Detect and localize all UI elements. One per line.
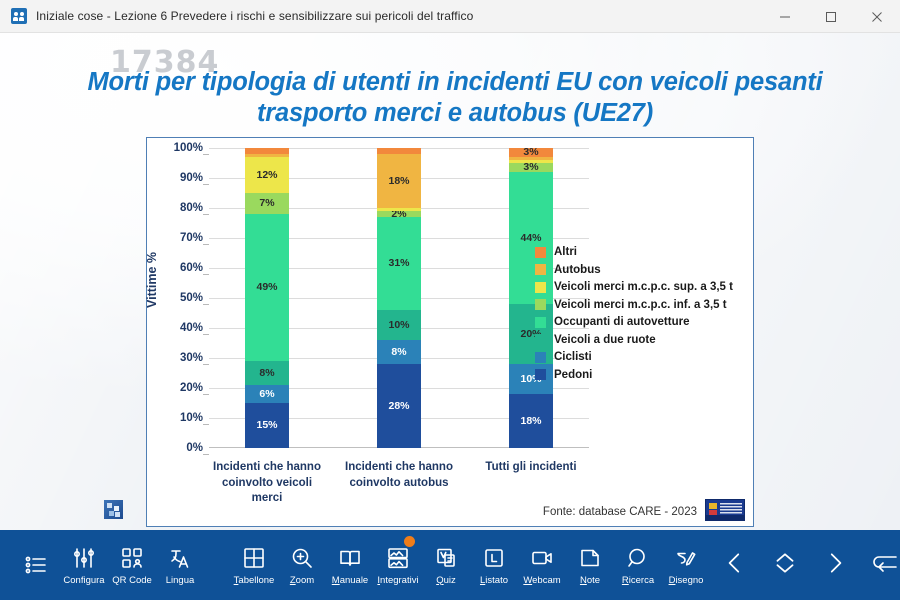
sliders-icon <box>72 545 96 571</box>
toolbar-button-label: Zoom <box>290 575 314 586</box>
legend-label: Veicoli merci m.c.p.c. sup. a 3,5 t <box>554 281 733 293</box>
toolbar-button-ricerca[interactable]: Ricerca <box>614 530 662 600</box>
toolbar-button-label: Lingua <box>166 575 195 586</box>
chart-panel: 0%10%20%30%40%50%60%70%80%90%100% Vittim… <box>146 137 754 527</box>
application-window: Iniziale cose - Lezione 6 Prevedere i ri… <box>0 0 900 600</box>
toolbar-button-label: Configura <box>63 575 104 586</box>
qrcode-icon <box>120 545 144 571</box>
bar-segment: 12% <box>245 157 289 193</box>
segment-value-label: 28% <box>388 401 409 412</box>
y-axis-tick: 60% <box>180 262 203 274</box>
segment-value-label: 31% <box>388 258 409 269</box>
source-note: Fonte: database CARE - 2023 <box>543 506 697 518</box>
toolbar-button-qr-code[interactable]: QR Code <box>108 530 156 600</box>
x-axis-category-label: Incidenti che hannocoinvolto autobus <box>339 460 459 491</box>
x-axis-category-label: Incidenti che hannocoinvolto veicoli mer… <box>207 460 327 507</box>
legend-item: Ciclisti <box>535 351 733 363</box>
window-title: Iniziale cose - Lezione 6 Prevedere i ri… <box>36 9 473 23</box>
toolbar-tools: ConfiguraQR CodeLinguaTabelloneZoomManua… <box>12 530 710 600</box>
zoom-in-icon <box>290 545 314 571</box>
bar-segment: 3% <box>509 163 553 172</box>
listato-icon <box>482 545 506 571</box>
list-icon <box>24 552 48 578</box>
legend-swatch <box>535 264 546 275</box>
book-icon <box>338 545 362 571</box>
x-axis-category-label: Tutti gli incidenti <box>471 460 591 476</box>
segment-value-label: 8% <box>259 368 274 379</box>
toolbar-button-label: Webcam <box>523 575 560 586</box>
y-axis-tick: 10% <box>180 412 203 424</box>
toolbar-button-menu[interactable] <box>12 530 60 600</box>
minimize-icon[interactable] <box>762 0 808 33</box>
legend-swatch <box>535 369 546 380</box>
legend-item: Pedoni <box>535 369 733 381</box>
note-icon <box>578 545 602 571</box>
publisher-logo <box>104 500 123 519</box>
toolbar-button-label: Note <box>580 575 600 586</box>
segment-value-label: 44% <box>520 233 541 244</box>
etsc-logo <box>705 499 745 521</box>
bar-segment: 31% <box>377 217 421 310</box>
bar-segment: 8% <box>377 340 421 364</box>
toolbar-button-label: Tabellone <box>234 575 275 586</box>
close-icon[interactable] <box>854 0 900 33</box>
bar-segment: 3% <box>509 148 553 157</box>
y-tick-mark <box>203 454 209 455</box>
return-icon <box>871 550 899 581</box>
toolbar-button-note[interactable]: Note <box>566 530 614 600</box>
segment-value-label: 49% <box>256 282 277 293</box>
plot-area: 15%6%8%49%7%12%28%8%10%31%2%18%18%10%20%… <box>209 148 589 448</box>
y-axis-tick: 30% <box>180 352 203 364</box>
toolbar-button-lingua[interactable]: Lingua <box>156 530 204 600</box>
y-axis-title: Vittime % <box>145 252 159 308</box>
y-axis-tick: 20% <box>180 382 203 394</box>
notification-badge <box>404 536 415 547</box>
segment-value-label: 10% <box>388 320 409 331</box>
y-axis-tick: 50% <box>180 292 203 304</box>
translate-icon <box>168 545 192 571</box>
toolbar-button-label: Quiz <box>436 575 456 586</box>
y-axis-tick: 0% <box>186 442 203 454</box>
legend-swatch <box>535 299 546 310</box>
chevron-left-icon <box>722 550 748 581</box>
legend-item: Veicoli merci m.c.p.c. sup. a 3,5 t <box>535 281 733 293</box>
segment-value-label: 3% <box>523 163 538 172</box>
legend-item: Veicoli a due ruote <box>535 334 733 346</box>
grid-icon <box>242 545 266 571</box>
stacked-bar: 28%8%10%31%2%18% <box>377 148 421 448</box>
toolbar-button-manuale[interactable]: Manuale <box>326 530 374 600</box>
legend-label: Altri <box>554 246 577 258</box>
bar-segment: 49% <box>245 214 289 361</box>
bar-segment: 18% <box>509 394 553 448</box>
toolbar-button-webcam[interactable]: Webcam <box>518 530 566 600</box>
next-slide-button[interactable] <box>810 530 860 600</box>
y-axis-tick: 80% <box>180 202 203 214</box>
toolbar-button-label: Ricerca <box>622 575 654 586</box>
bar-segment: 7% <box>245 193 289 214</box>
bar-segment: 28% <box>377 364 421 448</box>
webcam-icon <box>530 545 554 571</box>
toolbar-button-label: Integrativi <box>377 575 418 586</box>
stacked-bar: 15%6%8%49%7%12% <box>245 148 289 448</box>
toolbar-button-label: QR Code <box>112 575 152 586</box>
legend-label: Ciclisti <box>554 351 592 363</box>
segment-value-label: 6% <box>259 389 274 400</box>
segment-value-label: 3% <box>523 148 538 157</box>
y-axis-tick: 100% <box>174 142 203 154</box>
toolbar-button-tabellone[interactable]: Tabellone <box>230 530 278 600</box>
chevron-right-icon <box>822 550 848 581</box>
legend-item: Altri <box>535 246 733 258</box>
segment-value-label: 18% <box>520 416 541 427</box>
back-button[interactable] <box>860 530 900 600</box>
segment-value-label: 18% <box>388 176 409 187</box>
toolbar-button-quiz[interactable]: Quiz <box>422 530 470 600</box>
chart-legend: AltriAutobusVeicoli merci m.c.p.c. sup. … <box>535 246 733 381</box>
y-axis-tick: 70% <box>180 232 203 244</box>
previous-slide-button[interactable] <box>710 530 760 600</box>
toolbar-button-integrativi[interactable]: Integrativi <box>374 530 422 600</box>
segment-value-label: 7% <box>259 198 274 209</box>
toolbar-navigation <box>710 530 900 600</box>
legend-swatch <box>535 352 546 363</box>
quiz-icon <box>434 545 458 571</box>
bar-segment: 15% <box>245 403 289 448</box>
legend-item: Veicoli merci m.c.p.c. inf. a 3,5 t <box>535 299 733 311</box>
title-bar: Iniziale cose - Lezione 6 Prevedere i ri… <box>0 0 900 33</box>
slide-area: 17384 Morti per tipologia di utenti in i… <box>0 33 900 530</box>
bar-segment: 18% <box>377 154 421 208</box>
bar-segment: 8% <box>245 361 289 385</box>
legend-label: Autobus <box>554 264 601 276</box>
segment-value-label: 8% <box>391 347 406 358</box>
bar-segment: 6% <box>245 385 289 403</box>
y-axis-tick: 90% <box>180 172 203 184</box>
window-controls <box>762 0 900 33</box>
legend-swatch <box>535 334 546 345</box>
toolbar-button-listato[interactable]: Listato <box>470 530 518 600</box>
legend-label: Pedoni <box>554 369 592 381</box>
bar-segment: 10% <box>377 310 421 340</box>
segment-value-label: 12% <box>256 170 277 181</box>
x-axis-tick-labels: Incidenti che hannocoinvolto veicoli mer… <box>209 456 589 496</box>
toolbar-button-label: Manuale <box>332 575 368 586</box>
maximize-icon[interactable] <box>808 0 854 33</box>
people-icon <box>11 8 27 24</box>
legend-swatch <box>535 282 546 293</box>
legend-label: Veicoli merci m.c.p.c. inf. a 3,5 t <box>554 299 727 311</box>
legend-item: Autobus <box>535 264 733 276</box>
legend-swatch <box>535 317 546 328</box>
toolbar-button-label: Listato <box>480 575 508 586</box>
toolbar-button-label: Disegno <box>669 575 704 586</box>
slide-updown-button[interactable] <box>760 530 810 600</box>
toolbar-button-disegno[interactable]: Disegno <box>662 530 710 600</box>
chevron-updown-icon <box>772 550 798 581</box>
segment-value-label: 15% <box>256 420 277 431</box>
legend-item: Occupanti di autovetture <box>535 316 733 328</box>
toolbar-button-zoom[interactable]: Zoom <box>278 530 326 600</box>
images-icon <box>386 545 410 571</box>
y-axis-tick: 40% <box>180 322 203 334</box>
bottom-toolbar: ConfiguraQR CodeLinguaTabelloneZoomManua… <box>0 530 900 600</box>
legend-swatch <box>535 247 546 258</box>
legend-label: Veicoli a due ruote <box>554 334 656 346</box>
legend-label: Occupanti di autovetture <box>554 316 689 328</box>
toolbar-button-configura[interactable]: Configura <box>60 530 108 600</box>
search-icon <box>626 545 650 571</box>
page-title: Morti per tipologia di utenti in inciden… <box>60 67 850 129</box>
draw-icon <box>674 545 698 571</box>
